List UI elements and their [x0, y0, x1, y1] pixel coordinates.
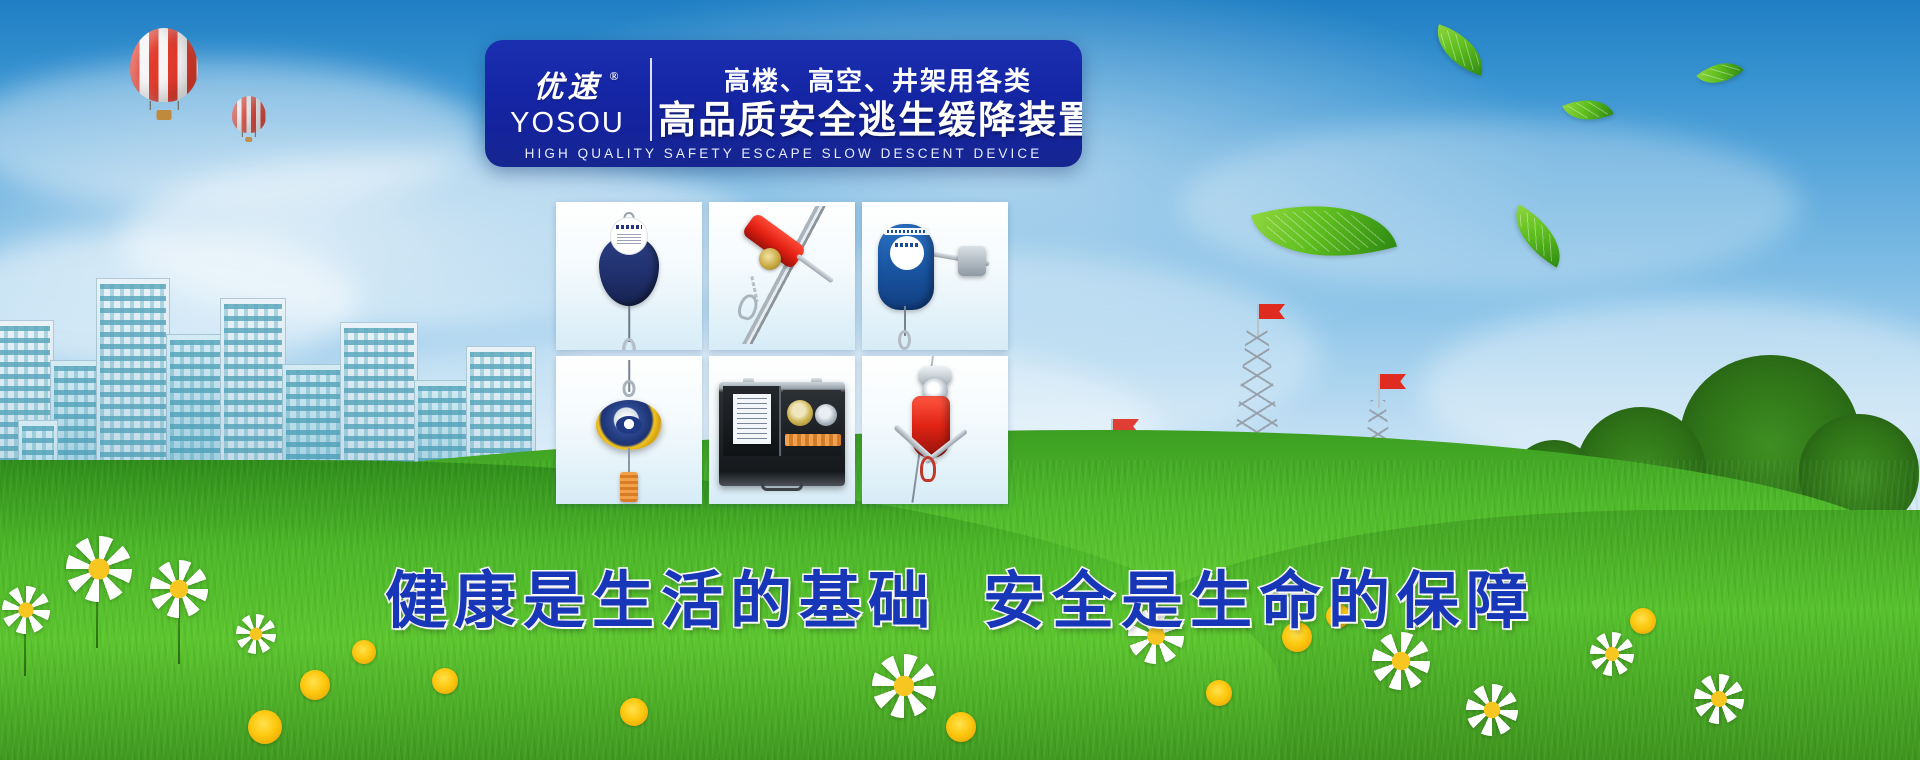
- daisy-flower-icon: [66, 536, 132, 602]
- balloon-ropes: [150, 101, 179, 110]
- product-cell-round-descender[interactable]: [556, 356, 702, 504]
- daisy-flower-icon: [2, 586, 50, 634]
- dandelion-flower-icon: [1206, 680, 1232, 706]
- daisy-flower-icon: [1590, 632, 1634, 676]
- daisy-flower-icon: [1128, 608, 1184, 664]
- brand-name-cn: 优速®: [534, 73, 602, 103]
- red-rope-grab-illustration: [862, 356, 1008, 504]
- fall-arrester-illustration: [556, 202, 702, 350]
- daisy-flower-icon: [1466, 684, 1518, 736]
- dandelion-flower-icon: [300, 670, 330, 700]
- daisy-flower-icon: [236, 614, 276, 654]
- dandelion-flower-icon: [432, 668, 458, 694]
- dandelion-flower-icon: [352, 640, 376, 664]
- daisy-flower-icon: [1694, 674, 1744, 724]
- dandelion-flower-icon: [946, 712, 976, 742]
- blue-winch-illustration: [862, 202, 1008, 350]
- dandelion-flower-icon: [1630, 608, 1656, 634]
- headline-block: 高楼、高空、井架用各类 高品质安全逃生缓降装置: [652, 40, 1082, 167]
- balloon-basket: [157, 110, 172, 120]
- balloon-envelope: [130, 28, 198, 102]
- daisy-flower-icon: [150, 560, 208, 618]
- dandelion-flower-icon: [1326, 604, 1350, 628]
- balloon-envelope: [232, 96, 266, 133]
- dandelion-flower-icon: [1282, 622, 1312, 652]
- brand-name-en: YOSOU: [510, 107, 625, 140]
- daisy-flower-icon: [872, 654, 936, 718]
- headline-subtitle: 高楼、高空、井架用各类: [724, 67, 1032, 96]
- product-cell-lever-hoist[interactable]: [709, 202, 855, 350]
- product-cell-fall-arrester[interactable]: [556, 202, 702, 350]
- equipment-case-illustration: [709, 356, 855, 504]
- header-plaque: 优速® YOSOU 高楼、高空、井架用各类 高品质安全逃生缓降装置: [485, 40, 1082, 167]
- headline-main: 高品质安全逃生缓降装置: [658, 100, 1082, 144]
- dandelion-flower-icon: [620, 698, 648, 726]
- product-cell-red-rope-grab[interactable]: [862, 356, 1008, 504]
- daisy-flower-icon: [1372, 632, 1430, 690]
- hot-air-balloon-icon: [232, 96, 266, 142]
- round-descender-illustration: [556, 356, 702, 504]
- brand-logo[interactable]: 优速® YOSOU: [485, 40, 650, 167]
- product-image-grid: [556, 202, 1008, 507]
- brand-name-cn-text: 优速: [534, 71, 602, 104]
- balloon-basket: [245, 137, 252, 142]
- product-cell-blue-winch[interactable]: [862, 202, 1008, 350]
- lever-hoist-illustration: [709, 202, 855, 350]
- hot-air-balloon-icon: [130, 28, 198, 120]
- product-cell-equipment-case[interactable]: [709, 356, 855, 504]
- promotional-banner: 优速® YOSOU 高楼、高空、井架用各类 高品质安全逃生缓降装置 HIGH Q…: [0, 0, 1920, 760]
- dandelion-flower-icon: [248, 710, 282, 744]
- registered-trademark-icon: ®: [610, 70, 619, 82]
